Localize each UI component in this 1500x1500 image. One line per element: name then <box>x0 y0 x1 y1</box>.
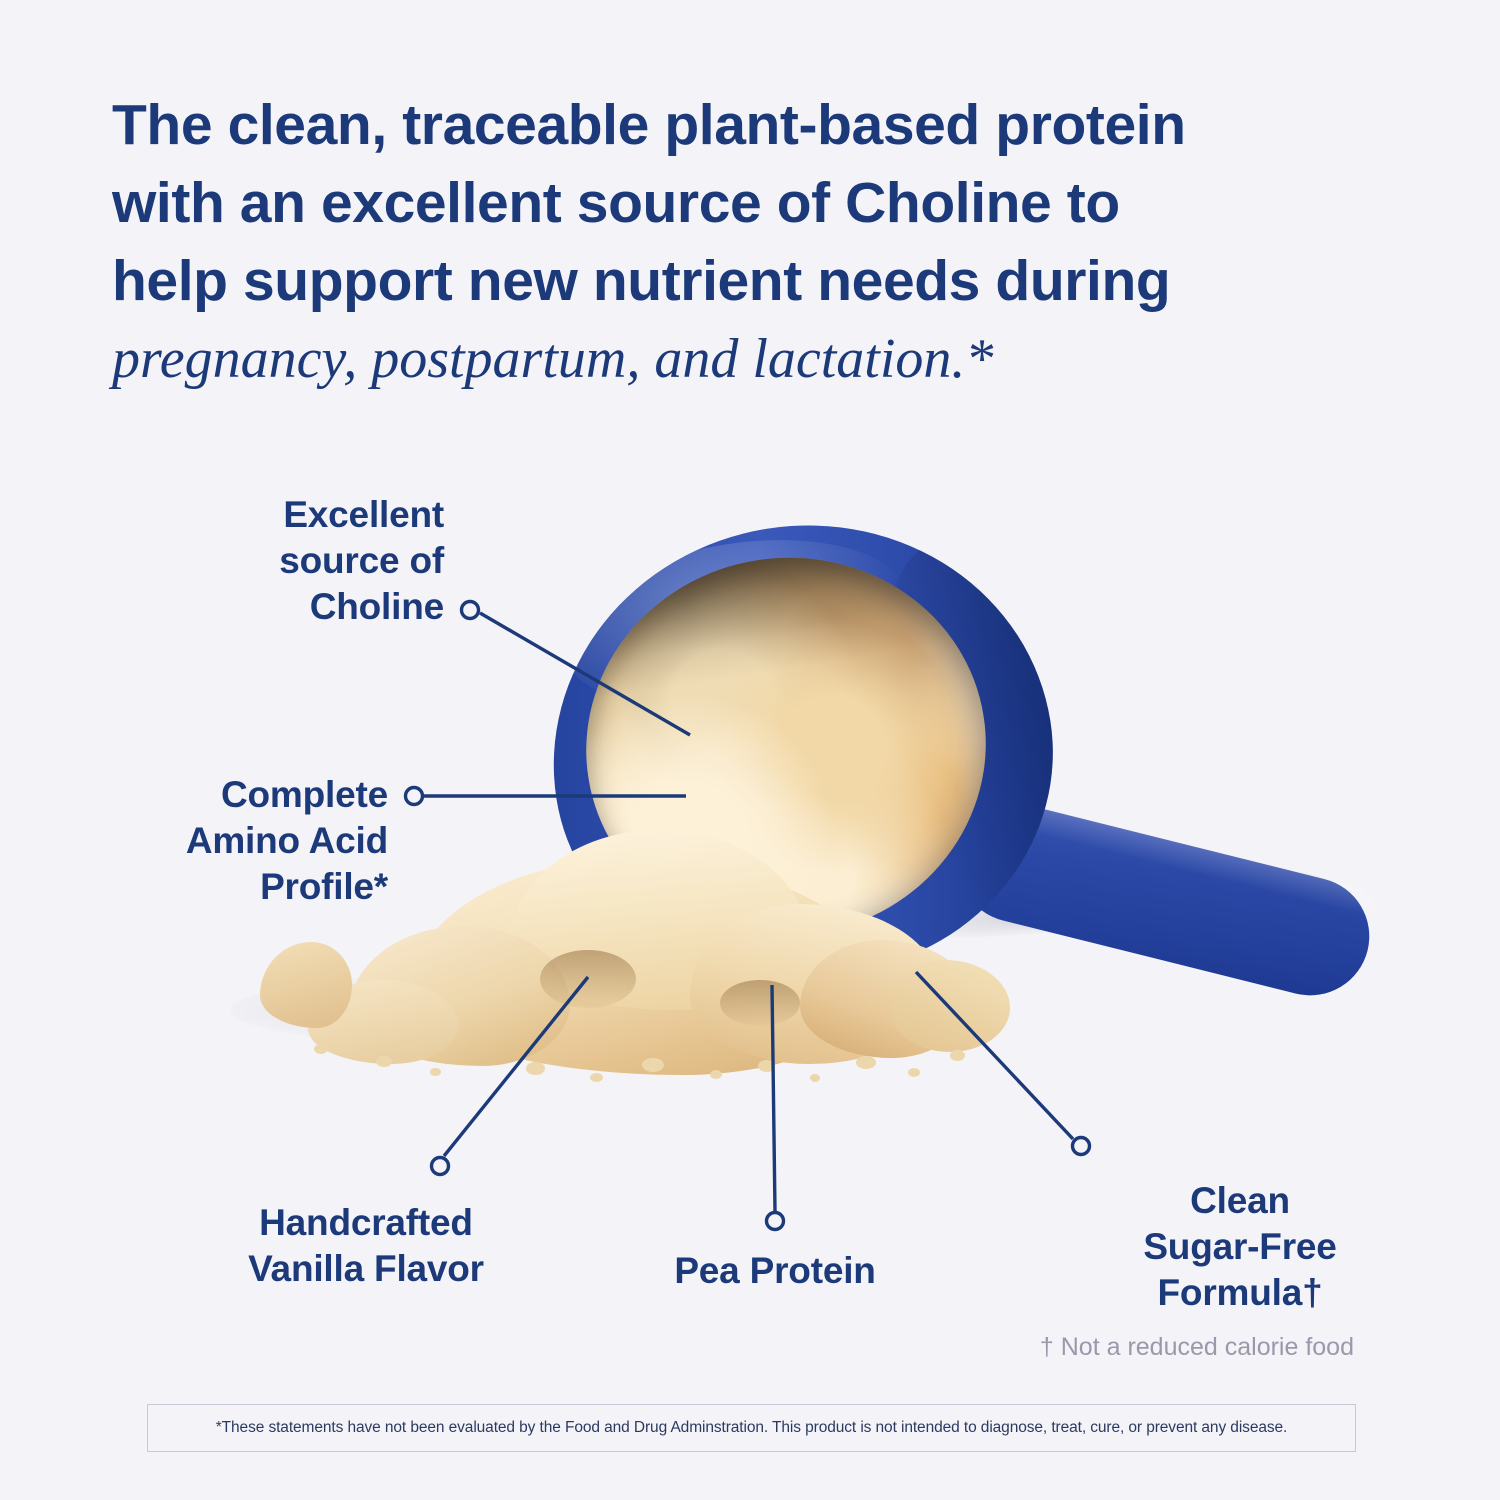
page-headline: The clean, traceable plant-based protein… <box>112 86 1382 398</box>
powder-crumb <box>590 1073 603 1082</box>
powder-chunk <box>890 960 1010 1052</box>
callout-label-choline: Excellent source of Choline <box>150 492 444 630</box>
headline-line-2: with an excellent source of Choline to <box>112 164 1382 242</box>
powder-crevice <box>720 980 800 1026</box>
callout-label-sugar-free: Clean Sugar-Free Formula† <box>1095 1178 1385 1316</box>
callout-choline-line-3: Choline <box>150 584 444 630</box>
powder-crumb <box>950 1050 965 1061</box>
powder-crevice <box>540 950 636 1008</box>
headline-line-1: The clean, traceable plant-based protein <box>112 86 1382 164</box>
disclaimer-box: *These statements have not been evaluate… <box>147 1404 1356 1452</box>
callout-sugar-line-1: Clean <box>1095 1178 1385 1224</box>
callout-choline-line-2: source of <box>150 538 444 584</box>
powder-crumb <box>642 1058 664 1072</box>
powder-crumb <box>376 1056 392 1067</box>
callout-sugar-line-2: Sugar-Free <box>1095 1224 1385 1270</box>
powder-crumb <box>810 1074 820 1082</box>
callout-sugar-line-3: Formula† <box>1095 1270 1385 1316</box>
powder-crumb <box>758 1060 775 1072</box>
headline-line-3: help support new nutrient needs during <box>112 242 1382 320</box>
dagger-footnote: † Not a reduced calorie food <box>1040 1333 1354 1362</box>
callout-amino-line-1: Complete <box>100 772 388 818</box>
headline-line-4-italic: pregnancy, postpartum, and lactation.* <box>112 320 1382 398</box>
powder-crumb <box>856 1056 876 1069</box>
callout-label-amino-acid: Complete Amino Acid Profile* <box>100 772 388 910</box>
disclaimer-text: *These statements have not been evaluate… <box>216 1419 1288 1437</box>
callout-label-pea-protein: Pea Protein <box>615 1248 935 1294</box>
callout-amino-line-3: Profile* <box>100 864 388 910</box>
callout-label-vanilla: Handcrafted Vanilla Flavor <box>186 1200 546 1292</box>
callout-vanilla-line-1: Handcrafted <box>186 1200 546 1246</box>
callout-vanilla-line-2: Vanilla Flavor <box>186 1246 546 1292</box>
powder-crumb <box>314 1044 328 1054</box>
callout-pea-line-1: Pea Protein <box>615 1248 935 1294</box>
callout-amino-line-2: Amino Acid <box>100 818 388 864</box>
powder-crumb <box>430 1068 441 1076</box>
powder-crumb <box>908 1068 920 1077</box>
powder-crumb <box>710 1070 722 1079</box>
powder-crumb <box>526 1062 545 1075</box>
protein-powder-pile <box>290 830 1010 1080</box>
powder-chunk <box>260 942 352 1028</box>
callout-choline-line-1: Excellent <box>150 492 444 538</box>
leader-dot-pea-protein <box>767 1213 784 1230</box>
